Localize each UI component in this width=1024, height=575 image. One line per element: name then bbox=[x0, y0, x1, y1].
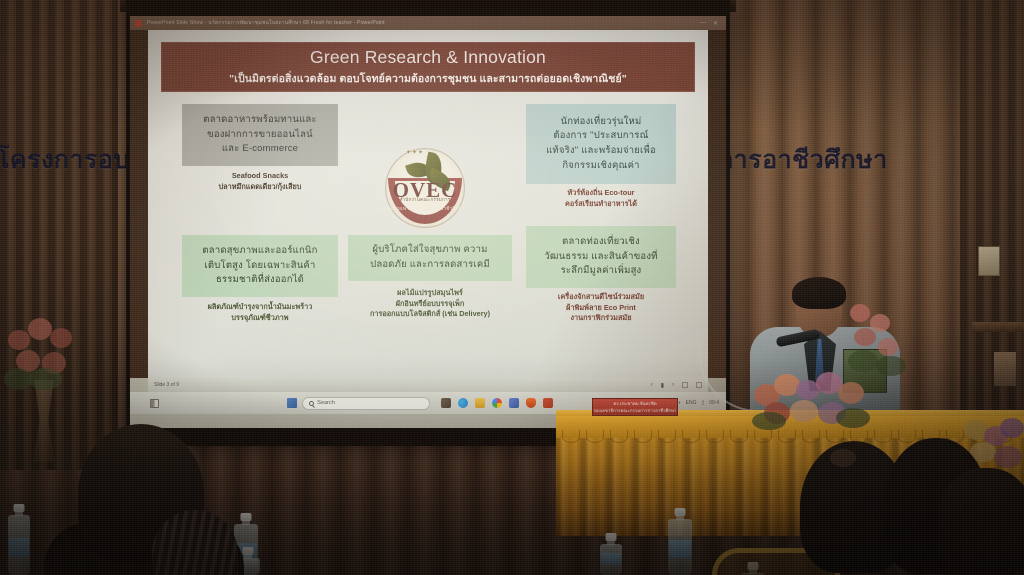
volume-icon[interactable]: ◑ bbox=[678, 400, 681, 406]
window-title: PowerPoint Slide Show - นวัตกรรมการพัฒนา… bbox=[147, 19, 385, 27]
firefox-browser-icon[interactable] bbox=[526, 398, 536, 408]
venue-banner-left: โครงการอบรมเ bbox=[0, 140, 146, 178]
nameplate-line-2: รองเลขาธิการคณะกรรมการการอาชีวศึกษา bbox=[594, 407, 677, 414]
box-line: แท้จริง" และพร้อมจ่ายเพื่อ bbox=[546, 144, 656, 159]
slide-navigation[interactable]: ‹ ▮ › bbox=[651, 382, 702, 389]
slide-box-new-tourists: นักท่องเที่ยวรุ่นใหม่ ต้องการ "ประสบการณ… bbox=[526, 104, 676, 184]
caption-line: งานกราฟิกร่วมสมัย bbox=[518, 313, 684, 324]
logo-motto-upper: สำนักงานคณะกรรมการ bbox=[385, 197, 465, 204]
file-explorer-icon[interactable] bbox=[475, 398, 485, 408]
battery-icon[interactable]: ▯ bbox=[702, 400, 705, 406]
slide-caption-new-tourists: ทัวร์ท้องถิ่น Eco-tour คอร์สเรียนทำอาหาร… bbox=[522, 188, 680, 209]
logo-motto-lower: ศูนย์บ่มเพาะผู้ประกอบการอาชีวศึกษา bbox=[385, 206, 465, 213]
audience-person bbox=[938, 468, 1024, 575]
search-input[interactable]: Search bbox=[302, 397, 430, 410]
slide-box-health-consumer: ผู้บริโภคใส่ใจสุขภาพ ความ ปลอดภัย และการ… bbox=[348, 235, 512, 281]
taskbar-pinned-apps[interactable] bbox=[441, 398, 553, 408]
caption-line: ทัวร์ท้องถิ่น Eco-tour bbox=[522, 188, 680, 199]
slide-caption-cultural-tourism: เครื่องจักสานดีไซน์ร่วมสมัย ผ้าพิมพ์ลาย … bbox=[518, 292, 684, 324]
box-line: ตลาดอาหารพร้อมทานและ bbox=[203, 113, 317, 128]
wall-shelf bbox=[972, 322, 1024, 332]
box-line: ปลอดภัย และการลดสารเคมี bbox=[370, 258, 490, 273]
nameplate-line-1: ดร.ประชาคม จันทรชิต bbox=[613, 400, 656, 407]
taskbar-widgets[interactable] bbox=[130, 399, 178, 408]
search-placeholder: Search bbox=[317, 400, 335, 406]
language-indicator[interactable]: ENG bbox=[686, 400, 697, 406]
powerpoint-status-bar: Slide 3 of 9 ‹ ▮ › bbox=[148, 378, 708, 392]
taskbar-center-group[interactable]: Search bbox=[178, 397, 662, 410]
caption-line: การออกแบบโลจิสติกส์ (เช่น Delivery) bbox=[338, 309, 522, 320]
caption-line: ผลิตภัณฑ์บำรุงจากน้ำมันมะพร้าว bbox=[178, 302, 342, 313]
venue-banner-right: การอาชีวศึกษา bbox=[718, 140, 903, 178]
left-wall-panel bbox=[0, 0, 118, 470]
slide-subtitle: "เป็นมิตรต่อสิ่งแวดล้อม ตอบโจทย์ความต้อง… bbox=[229, 70, 627, 87]
caption-line: ปลาหมึกแดดเดียว/กุ้งเสียบ bbox=[182, 182, 338, 193]
box-line: ผู้บริโภคใส่ใจสุขภาพ ความ bbox=[372, 243, 487, 258]
windows-start-icon[interactable] bbox=[287, 398, 297, 408]
box-line: วัฒนธรรม และสินค้าของที่ bbox=[544, 250, 657, 265]
slide-caption-health-consumer: ผลไม้แปรรูปสมุนไพร์ ผักอินทรีย์อบบรรจุเพ… bbox=[338, 288, 522, 320]
conference-room-photo: โครงการอบรมเ การอาชีวศึกษา PowerPoint Sl… bbox=[0, 0, 1024, 575]
taskbar-clock[interactable]: 09:4 bbox=[709, 400, 719, 406]
minimize-button[interactable]: — bbox=[700, 20, 706, 27]
box-line: กิจกรรมเชิงคุณค่า bbox=[562, 159, 639, 174]
caption-line: ผ้าพิมพ์ลาย Eco Print bbox=[518, 303, 684, 314]
slide-title-band: Green Research & Innovation "เป็นมิตรต่อ… bbox=[161, 42, 695, 92]
slide-box-cultural-tourism: ตลาดท่องเที่ยวเชิง วัฒนธรรม และสินค้าของ… bbox=[526, 226, 676, 288]
slide-title: Green Research & Innovation bbox=[310, 47, 546, 68]
box-line: ต้องการ "ประสบการณ์ bbox=[553, 129, 648, 144]
box-line: ระลึกมีมูลค่าเพิ่มสูง bbox=[561, 264, 642, 279]
slide-box-health-organic: ตลาดสุขภาพและออร์แกนิก เติบโตสูง โดยเฉพา… bbox=[182, 235, 338, 297]
box-line: ธรรมชาติที่ส่งออกได้ bbox=[216, 273, 304, 288]
slide-letterbox-left bbox=[130, 30, 148, 378]
flower-bouquet-on-table bbox=[752, 368, 874, 428]
play-slideshow-button[interactable]: ▮ bbox=[661, 382, 664, 389]
powerpoint-icon bbox=[135, 20, 142, 27]
slide-caption-health-organic: ผลิตภัณฑ์บำรุงจากน้ำมันมะพร้าว บรรจุภัณฑ… bbox=[178, 302, 342, 323]
flower-bouquet-behind-speaker bbox=[846, 300, 912, 376]
box-line: ตลาดสุขภาพและออร์แกนิก bbox=[202, 244, 317, 259]
window-controls[interactable]: — ✕ bbox=[700, 20, 721, 27]
powerpoint-title-bar: PowerPoint Slide Show - นวัตกรรมการพัฒนา… bbox=[130, 16, 726, 30]
water-bottle bbox=[600, 533, 622, 575]
caption-line: ผักอินทรีย์อบบรรจุเพ็ก bbox=[338, 299, 522, 310]
caption-line: เครื่องจักสานดีไซน์ร่วมสมัย bbox=[518, 292, 684, 303]
audience-person bbox=[152, 488, 238, 575]
projection-screen: PowerPoint Slide Show - นวัตกรรมการพัฒนา… bbox=[130, 16, 726, 428]
slide-letterbox-right bbox=[708, 30, 726, 378]
widgets-icon[interactable] bbox=[150, 399, 159, 408]
ovec-logo: ✦✦✦ OVEC สำนักงานคณะกรรมการ ศูนย์บ่มเพาะ… bbox=[385, 148, 465, 228]
next-slide-button[interactable]: › bbox=[672, 382, 674, 388]
caption-line: บรรจุภัณฑ์ชีวภาพ bbox=[178, 313, 342, 324]
box-line: นักท่องเที่ยวรุ่นใหม่ bbox=[561, 115, 642, 130]
slide-box-market-ready-food: ตลาดอาหารพร้อมทานและ ของฝากการขายออนไลน์… bbox=[182, 104, 338, 166]
caption-line: ผลไม้แปรรูปสมุนไพร์ bbox=[338, 288, 522, 299]
caption-line: Seafood Snacks bbox=[182, 171, 338, 182]
search-icon bbox=[309, 401, 314, 406]
presentation-slide: Green Research & Innovation "เป็นมิตรต่อ… bbox=[148, 30, 708, 378]
edge-browser-icon[interactable] bbox=[458, 398, 468, 408]
flower-bouquet-left bbox=[2, 310, 90, 394]
close-button[interactable]: ✕ bbox=[713, 20, 718, 27]
box-line: ของฝากการขายออนไลน์ bbox=[207, 128, 313, 143]
box-line: ตลาดท่องเที่ยวเชิง bbox=[562, 235, 640, 250]
previous-slide-button[interactable]: ‹ bbox=[651, 382, 653, 388]
slide-caption-market-ready-food: Seafood Snacks ปลาหมึกแดดเดียว/กุ้งเสียบ bbox=[182, 171, 338, 192]
box-line: เติบโตสูง โดยเฉพาะสินค้า bbox=[204, 259, 315, 274]
task-view-icon[interactable] bbox=[441, 398, 451, 408]
wall-mounted-box bbox=[978, 246, 1000, 276]
wall-plaque bbox=[994, 352, 1016, 386]
reading-view-button[interactable] bbox=[696, 382, 702, 388]
powerpoint-icon[interactable] bbox=[543, 398, 553, 408]
water-bottle bbox=[8, 504, 30, 575]
water-bottle bbox=[668, 508, 692, 575]
speaker-hair bbox=[792, 277, 846, 309]
box-line: และ E-commerce bbox=[222, 142, 298, 157]
caption-line: คอร์สเรียนทำอาหารได้ bbox=[522, 199, 680, 210]
speaker-nameplate: ดร.ประชาคม จันทรชิต รองเลขาธิการคณะกรรมก… bbox=[592, 398, 678, 416]
microsoft-store-icon[interactable] bbox=[509, 398, 519, 408]
normal-view-button[interactable] bbox=[682, 382, 688, 388]
chrome-browser-icon[interactable] bbox=[492, 398, 502, 408]
slide-counter: Slide 3 of 9 bbox=[154, 382, 179, 388]
right-wall-panel bbox=[960, 0, 1024, 460]
